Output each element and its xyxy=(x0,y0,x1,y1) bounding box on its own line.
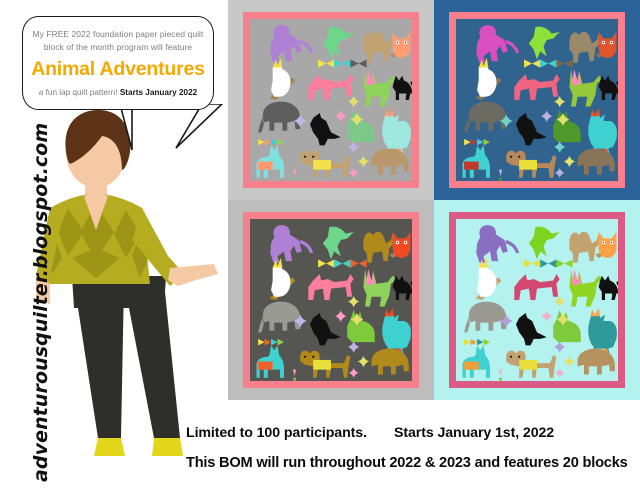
bubble-subtitle: a fun lap quilt pattern! Starts January … xyxy=(39,87,197,98)
star-7 xyxy=(349,368,359,378)
chicken-comb xyxy=(384,108,394,116)
bowtie-1a xyxy=(318,260,326,268)
chicken-block xyxy=(588,111,617,155)
bowtie-3a xyxy=(556,60,564,68)
arrow-3 xyxy=(477,339,483,345)
crow-block xyxy=(310,113,341,145)
quilt-border xyxy=(243,12,419,188)
star-2 xyxy=(335,311,346,322)
rabbit-block xyxy=(553,310,581,342)
star-5 xyxy=(348,141,359,152)
leaf-2 xyxy=(293,178,296,181)
camel-block xyxy=(363,32,395,63)
dog-eye-right xyxy=(518,156,520,158)
quilt-center xyxy=(250,219,412,381)
hummingbird-block xyxy=(529,227,560,260)
arrow-4 xyxy=(484,139,490,145)
bubble-title: Animal Adventures xyxy=(31,58,205,81)
crow-block xyxy=(516,113,547,145)
quilt-aqua[interactable] xyxy=(434,200,640,400)
arrow-2 xyxy=(471,139,477,145)
star-7 xyxy=(349,168,359,178)
crow-block xyxy=(516,313,547,345)
dog-coat xyxy=(313,160,331,170)
bowtie-3b xyxy=(565,260,573,268)
chicken-block xyxy=(382,111,411,155)
rabbit-block xyxy=(347,110,375,142)
star-6 xyxy=(358,156,369,167)
llama-blanket xyxy=(258,362,273,370)
bubble-line-1: My FREE 2022 foundation paper pieced qui… xyxy=(33,28,204,41)
bowtie-2a xyxy=(334,60,342,68)
owl-pupil-left xyxy=(603,42,604,43)
fox-block xyxy=(308,74,353,100)
chicken-block xyxy=(382,311,411,355)
bowtie-1b xyxy=(326,60,334,68)
rabbit-block xyxy=(347,310,375,342)
arrow-3 xyxy=(477,139,483,145)
star-1 xyxy=(554,296,565,307)
arrow-1 xyxy=(258,339,264,345)
kangaroo-block xyxy=(476,225,519,263)
bowtie-2a xyxy=(540,260,548,268)
star-6 xyxy=(564,156,575,167)
kangaroo-block xyxy=(270,25,313,63)
camel-block xyxy=(569,232,601,263)
chicken-block xyxy=(588,311,617,355)
owl-pupil-right xyxy=(405,42,406,43)
bowtie-3b xyxy=(565,60,573,68)
kangaroo-block xyxy=(476,25,519,63)
elephant-block xyxy=(258,302,300,333)
star-2 xyxy=(335,111,346,122)
cat-block xyxy=(393,76,412,100)
star-7 xyxy=(555,368,565,378)
shoe-right xyxy=(152,438,183,456)
llama-blanket xyxy=(464,162,479,170)
fox-block xyxy=(514,274,559,300)
owl-pupil-right xyxy=(611,42,612,43)
elephant-block xyxy=(258,102,300,133)
cat-tail xyxy=(410,71,412,86)
quilt-center xyxy=(456,19,618,181)
elephant-block xyxy=(464,302,506,333)
cat-block xyxy=(599,276,618,300)
bowtie-1a xyxy=(318,60,326,68)
cat-tail xyxy=(616,271,618,286)
speech-bubble-tails xyxy=(118,104,238,160)
bowtie-1a xyxy=(524,60,532,68)
bowtie-1b xyxy=(532,60,540,68)
speech-tail-right xyxy=(176,104,222,148)
owl-pupil-left xyxy=(603,242,604,243)
owl-block xyxy=(599,32,617,58)
owl-block xyxy=(393,232,411,258)
dog-coat xyxy=(519,160,537,170)
quilt-border xyxy=(449,12,625,188)
bowtie-2a xyxy=(334,260,342,268)
arrow-4 xyxy=(484,339,490,345)
dog-eye-right xyxy=(518,356,520,358)
star-5 xyxy=(348,341,359,352)
arrow-2 xyxy=(471,339,477,345)
bubble-sub-bold: Starts January 2022 xyxy=(120,88,197,97)
bowtie-1b xyxy=(326,260,334,268)
bowtie-2b xyxy=(342,60,350,68)
quilt-charcoal[interactable] xyxy=(228,200,434,400)
cat-block xyxy=(599,76,618,100)
shoe-left xyxy=(94,438,125,456)
arrow-3 xyxy=(271,139,277,145)
hummingbird-block xyxy=(323,27,354,60)
dog-eye-right xyxy=(312,356,314,358)
quilt-center xyxy=(250,19,412,181)
star-7 xyxy=(555,168,565,178)
star-6 xyxy=(358,356,369,367)
quilt-animal-blocks xyxy=(250,19,412,181)
quilt-animal-blocks xyxy=(456,219,618,381)
star-2 xyxy=(541,311,552,322)
bubble-line-2: block of the month program will feature xyxy=(44,41,192,54)
dog-eye-left xyxy=(304,356,306,358)
owl-pupil-left xyxy=(397,242,398,243)
bowtie-3a xyxy=(350,60,358,68)
start-date-text: Starts January 1st, 2022 xyxy=(394,425,554,441)
owl-block xyxy=(393,32,411,58)
star-2 xyxy=(541,111,552,122)
bowtie-2b xyxy=(342,260,350,268)
dog-eye-left xyxy=(510,156,512,158)
arrow-3 xyxy=(271,339,277,345)
bowtie-1b xyxy=(532,260,540,268)
hummingbird-block xyxy=(529,27,560,60)
bom-description-text: This BOM will run throughout 2022 & 2023… xyxy=(186,455,628,471)
bowtie-2a xyxy=(540,60,548,68)
limited-participants-text: Limited to 100 participants. xyxy=(186,425,367,441)
quilt-border xyxy=(243,212,419,388)
owl-pupil-right xyxy=(611,242,612,243)
star-1 xyxy=(554,96,565,107)
kangaroo-block xyxy=(270,225,313,263)
arrow-2 xyxy=(265,339,271,345)
leaf-2 xyxy=(499,178,502,181)
leaf-1 xyxy=(293,170,296,176)
star-5 xyxy=(554,341,565,352)
quilt-animal-blocks xyxy=(250,219,412,381)
camel-block xyxy=(363,232,395,263)
star-1 xyxy=(348,296,359,307)
llama-blanket xyxy=(464,362,479,370)
rabbit-block xyxy=(553,110,581,142)
star-6 xyxy=(564,356,575,367)
arrow-1 xyxy=(464,139,470,145)
quilt-border xyxy=(449,212,625,388)
dog-coat xyxy=(313,360,331,370)
speech-bubble: My FREE 2022 foundation paper pieced qui… xyxy=(22,16,214,110)
leaf-2 xyxy=(499,378,502,381)
bowtie-3b xyxy=(359,60,367,68)
leaf-1 xyxy=(293,370,296,376)
dog-eye-left xyxy=(510,356,512,358)
leaf-1 xyxy=(499,170,502,176)
blog-url-vertical[interactable]: adventurousquilter.blogspot.com xyxy=(30,132,52,482)
star-5 xyxy=(554,141,565,152)
llama-blanket xyxy=(258,162,273,170)
elephant-block xyxy=(464,102,506,133)
quilt-animal-blocks xyxy=(456,19,618,181)
owl-pupil-left xyxy=(397,42,398,43)
arrow-1 xyxy=(258,139,264,145)
quilt-center xyxy=(456,219,618,381)
camel-block xyxy=(569,32,601,63)
bowtie-3a xyxy=(350,260,358,268)
poster-canvas: My FREE 2022 foundation paper pieced qui… xyxy=(0,0,640,494)
leaf-1 xyxy=(499,370,502,376)
star-1 xyxy=(348,96,359,107)
fox-block xyxy=(514,74,559,100)
dog-eye-left xyxy=(304,156,306,158)
bowtie-3b xyxy=(359,260,367,268)
owl-pupil-right xyxy=(405,242,406,243)
quilt-sample-grid xyxy=(228,0,640,400)
chicken-comb xyxy=(590,308,600,316)
owl-block xyxy=(599,232,617,258)
arrow-2 xyxy=(265,139,271,145)
cat-tail xyxy=(616,71,618,86)
quilt-blue[interactable] xyxy=(434,0,640,200)
quilt-gray[interactable] xyxy=(228,0,434,200)
arrow-4 xyxy=(278,339,284,345)
cat-block xyxy=(393,276,412,300)
bowtie-2b xyxy=(548,60,556,68)
chicken-comb xyxy=(384,308,394,316)
crow-block xyxy=(310,313,341,345)
bubble-sub-plain: a fun lap quilt pattern! xyxy=(39,88,120,97)
chicken-comb xyxy=(590,108,600,116)
arrow-4 xyxy=(278,139,284,145)
cat-tail xyxy=(410,271,412,286)
arrow-1 xyxy=(464,339,470,345)
dog-eye-right xyxy=(312,156,314,158)
hummingbird-block xyxy=(323,227,354,260)
dog-coat xyxy=(519,360,537,370)
bowtie-2b xyxy=(548,260,556,268)
bowtie-3a xyxy=(556,260,564,268)
fox-block xyxy=(308,274,353,300)
speech-tail-left xyxy=(120,104,132,150)
bowtie-1a xyxy=(524,260,532,268)
leaf-2 xyxy=(293,378,296,381)
